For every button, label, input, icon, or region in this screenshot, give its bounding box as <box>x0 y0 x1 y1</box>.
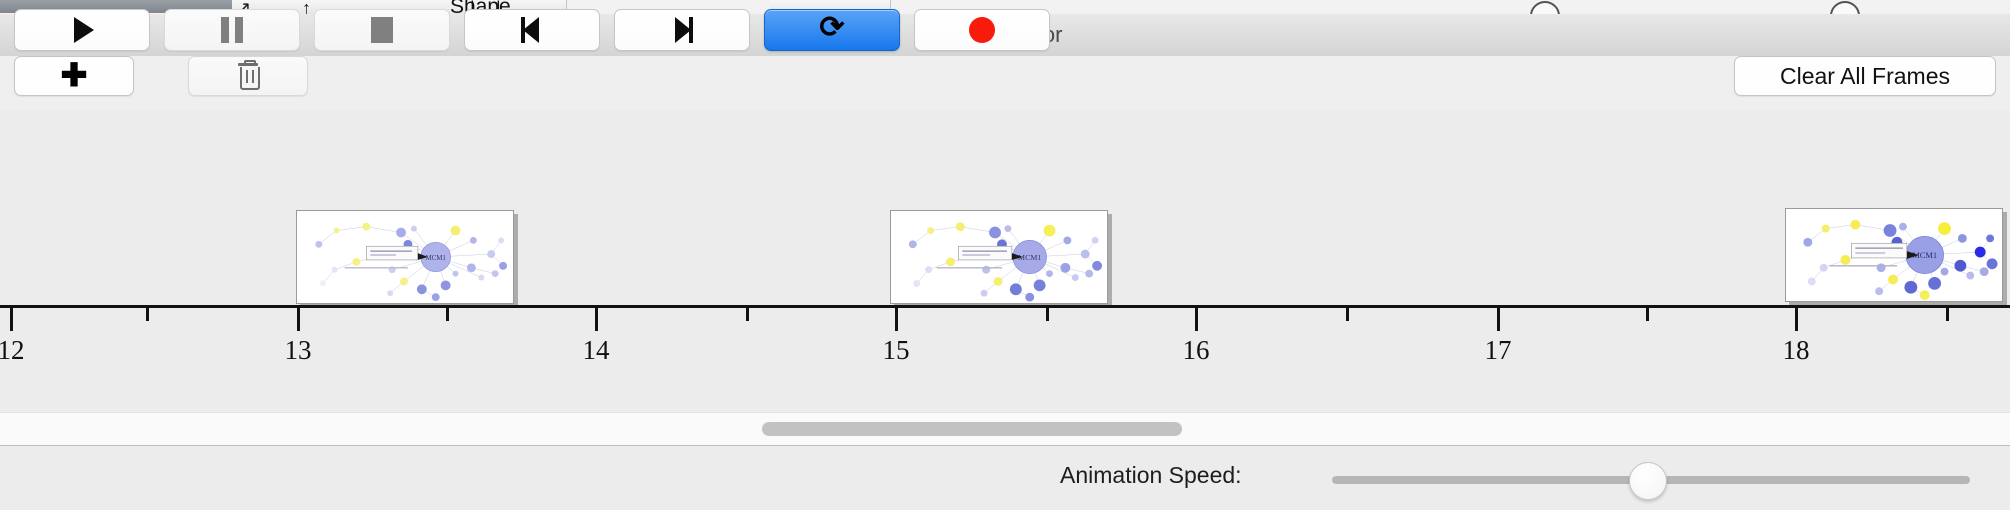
loop-icon: ⟳ <box>819 13 844 43</box>
ruler-minor-tick <box>1046 308 1049 321</box>
circle-icon <box>1830 1 1860 15</box>
skip-forward-button[interactable] <box>614 9 750 51</box>
skip-back-button[interactable] <box>464 9 600 51</box>
animation-speed-slider-thumb[interactable] <box>1629 462 1667 500</box>
pause-button[interactable] <box>164 9 300 51</box>
animation-speed-label: Animation Speed: <box>1060 462 1242 489</box>
ruler-major-tick <box>10 308 13 331</box>
stop-button[interactable] <box>314 9 450 51</box>
clear-all-frames-label: Clear All Frames <box>1780 63 1950 90</box>
cyanimator-window: ↗ ↑ | | Shape CyAnimator ✚ Clear All Fra… <box>0 0 2010 510</box>
skip-back-icon <box>519 17 545 43</box>
ruler-major-tick <box>895 308 898 331</box>
record-icon <box>969 17 995 43</box>
ruler-tick-label: 18 <box>1783 335 1810 366</box>
ruler-minor-tick <box>1346 308 1349 321</box>
ruler-axis-line <box>0 305 2010 308</box>
ruler-major-tick <box>1195 308 1198 331</box>
clear-all-frames-button[interactable]: Clear All Frames <box>1734 56 1996 96</box>
scrollbar-thumb[interactable] <box>762 422 1182 436</box>
network-thumbnail-image: MCM1 <box>891 211 1107 303</box>
delete-frame-button[interactable] <box>188 56 308 96</box>
timeline-ruler[interactable]: 12131415161718 <box>0 305 2010 380</box>
ruler-major-tick <box>1497 308 1500 331</box>
ruler-minor-tick <box>746 308 749 321</box>
network-thumbnail-image: MCM1 <box>1786 209 2002 301</box>
ruler-major-tick <box>297 308 300 331</box>
ruler-minor-tick <box>1946 308 1949 321</box>
trash-icon <box>237 63 259 89</box>
plus-icon: ✚ <box>61 59 88 91</box>
play-icon <box>74 17 94 43</box>
svg-text:MCM1: MCM1 <box>1018 253 1041 262</box>
skip-forward-icon <box>669 17 695 43</box>
record-button[interactable] <box>914 9 1050 51</box>
ruler-tick-label: 14 <box>583 335 610 366</box>
ruler-tick-label: 15 <box>883 335 910 366</box>
network-thumbnail-image: MCM1 <box>297 211 513 303</box>
ruler-minor-tick <box>146 308 149 321</box>
timeline-panel[interactable]: MCM1 <box>0 110 2010 410</box>
play-button[interactable] <box>14 9 150 51</box>
ruler-tick-label: 17 <box>1485 335 1512 366</box>
circle-icon <box>1530 1 1560 15</box>
ruler-major-tick <box>595 308 598 331</box>
stop-icon <box>371 17 393 43</box>
keyframe-2[interactable]: MCM1 <box>890 210 1108 304</box>
add-frame-button[interactable]: ✚ <box>14 56 134 96</box>
ruler-tick-label: 16 <box>1183 335 1210 366</box>
ruler-minor-tick <box>446 308 449 321</box>
ruler-tick-label: 13 <box>285 335 312 366</box>
keyframe-3[interactable]: MCM1 <box>1785 208 2003 302</box>
ruler-tick-label: 12 <box>0 335 25 366</box>
ruler-minor-tick <box>1646 308 1649 321</box>
svg-text:MCM1: MCM1 <box>426 255 447 262</box>
arrow-icon: ↑ <box>302 0 311 15</box>
loop-button[interactable]: ⟳ <box>764 9 900 51</box>
horizontal-scrollbar[interactable] <box>0 412 2010 446</box>
pause-icon <box>221 17 243 43</box>
ruler-major-tick <box>1795 308 1798 331</box>
keyframe-1[interactable]: MCM1 <box>296 210 514 304</box>
